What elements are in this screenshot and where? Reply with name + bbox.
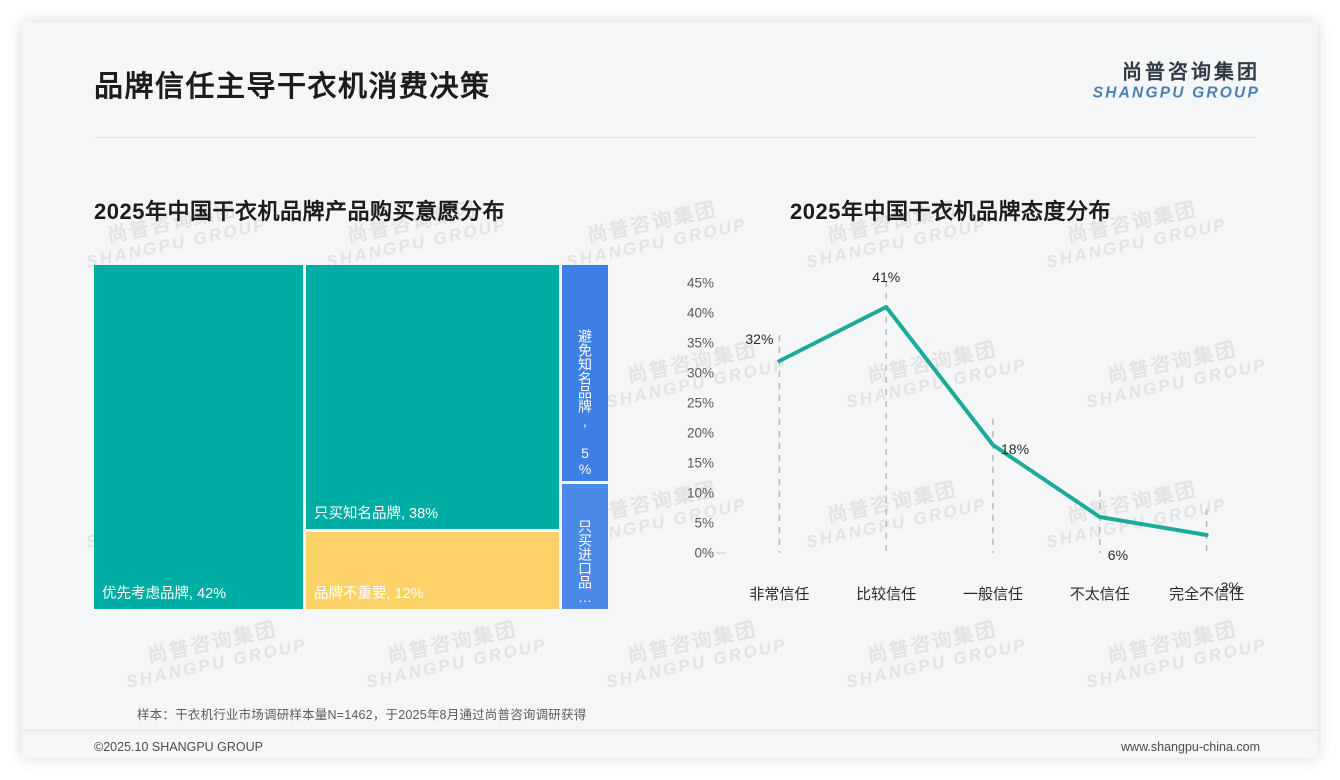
y-axis-tick-label: 20% (662, 426, 714, 441)
treemap-cell-label-wrap: 只买进口品… (562, 519, 608, 605)
x-axis-tick-label: 一般信任 (963, 583, 1023, 604)
watermark-text: 尚普咨询集团SHANGPU GROUP (600, 613, 789, 692)
line-chart-title: 2025年中国干衣机品牌态度分布 (790, 194, 1111, 226)
slide-header: 品牌信任主导干衣机消费决策 尚普咨询集团 SHANGPU GROUP (22, 22, 1318, 118)
logo-chinese: 尚普咨询集团 (1093, 61, 1260, 85)
watermark-text: 尚普咨询集团SHANGPU GROUP (840, 613, 1029, 692)
treemap-cell-label: 只买知名品牌, 38% (314, 502, 438, 523)
treemap-cell-label: 优先考虑品牌, 42% (102, 582, 226, 603)
footer-divider (22, 730, 1318, 731)
slide: 尚普咨询集团SHANGPU GROUP尚普咨询集团SHANGPU GROUP尚普… (22, 22, 1318, 758)
treemap-cell-label-wrap: 避免知名品牌, 5% (562, 329, 608, 477)
x-axis-tick-label: 非常信任 (749, 583, 809, 604)
y-axis-tick-label: 10% (662, 486, 714, 501)
watermark-text: 尚普咨询集团SHANGPU GROUP (560, 193, 749, 272)
y-axis-tick-label: 25% (662, 396, 714, 411)
data-point-label: 6% (1108, 547, 1128, 563)
y-axis-tick-label: 0% (662, 546, 714, 561)
y-axis-tick-label: 5% (662, 516, 714, 531)
page-title: 品牌信任主导干衣机消费决策 (94, 63, 491, 105)
sample-note: 样本：干衣机行业市场调研样本量N=1462，于2025年8月通过尚普咨询调研获得 (137, 704, 586, 723)
header-divider (94, 137, 1256, 138)
y-axis-tick-label: 35% (662, 336, 714, 351)
treemap-cell[interactable]: 优先考虑品牌, 42% (94, 265, 303, 609)
treemap-cell[interactable]: 避免知名品牌, 5% (562, 265, 608, 481)
line-chart: 45%40%35%30%25%20%15%10%5%0%非常信任比较信任一般信任… (662, 265, 1282, 615)
x-axis-tick-label: 不太信任 (1070, 583, 1130, 604)
brand-logo: 尚普咨询集团 SHANGPU GROUP (1093, 61, 1260, 104)
watermark-text: 尚普咨询集团SHANGPU GROUP (120, 613, 309, 692)
y-axis-tick-label: 30% (662, 366, 714, 381)
y-axis-tick-label: 15% (662, 456, 714, 471)
watermark-text: 尚普咨询集团SHANGPU GROUP (360, 613, 549, 692)
copyright-text: ©2025.10 SHANGPU GROUP (94, 740, 263, 754)
x-axis-tick-label: 比较信任 (856, 583, 916, 604)
treemap-cell[interactable]: 只买进口品… (562, 484, 608, 609)
data-point-label: 18% (1001, 441, 1029, 457)
website-link[interactable]: www.shangpu-china.com (1121, 740, 1260, 754)
treemap-cell[interactable]: 品牌不重要, 12% (306, 532, 559, 609)
treemap-cell-label: 品牌不重要, 12% (314, 582, 424, 603)
y-axis-tick-label: 45% (662, 276, 714, 291)
logo-english: SHANGPU GROUP (1093, 85, 1260, 104)
data-point-label: 3% (1221, 579, 1241, 595)
line-chart-svg (662, 265, 1282, 615)
treemap-cell[interactable]: 只买知名品牌, 38% (306, 265, 559, 529)
data-point-label: 32% (745, 331, 773, 347)
watermark-text: 尚普咨询集团SHANGPU GROUP (1080, 613, 1269, 692)
treemap-chart: 优先考虑品牌, 42%只买知名品牌, 38%品牌不重要, 12%避免知名品牌, … (94, 265, 608, 609)
data-point-label: 41% (872, 269, 900, 285)
treemap-cell-label: 避免知名品牌, 5% (575, 329, 595, 477)
y-axis-tick-label: 40% (662, 306, 714, 321)
treemap-chart-title: 2025年中国干衣机品牌产品购买意愿分布 (94, 194, 505, 226)
treemap-cell-label: 只买进口品… (575, 519, 595, 605)
